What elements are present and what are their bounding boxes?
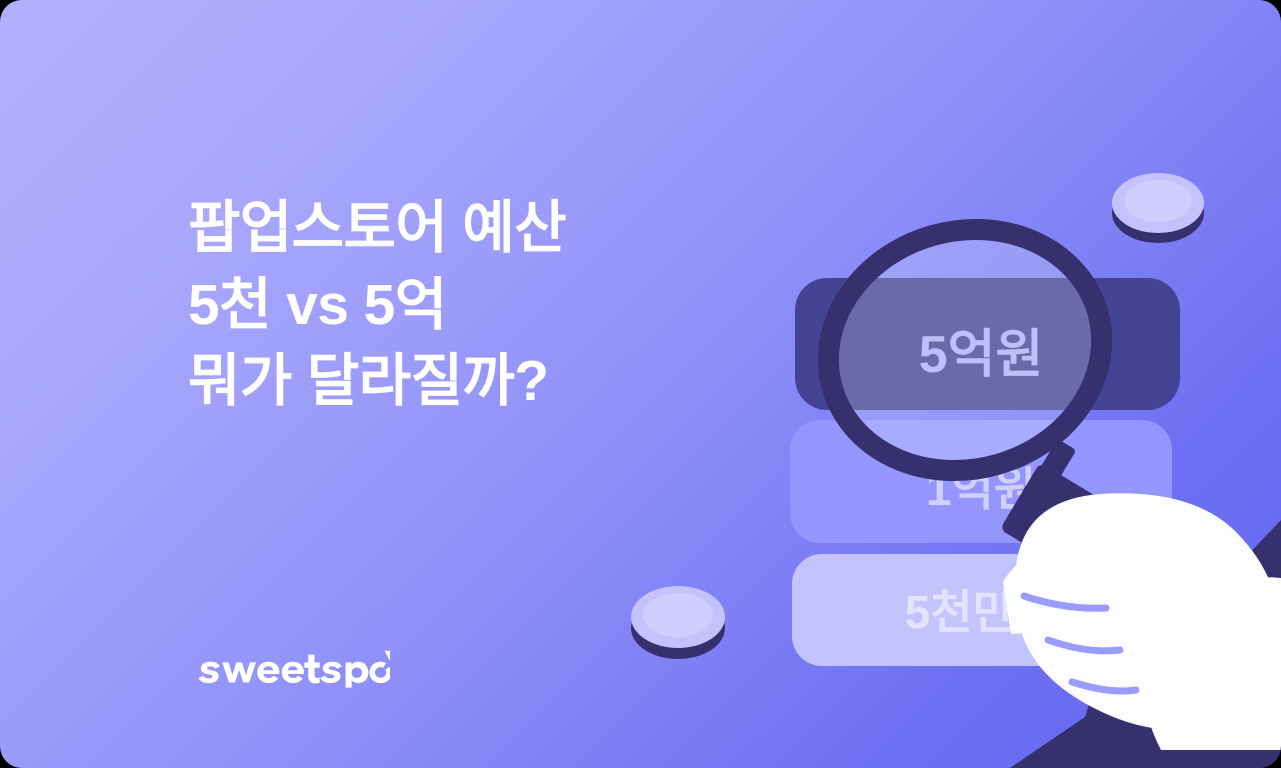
headline-line-2: 5천 vs 5억	[188, 267, 748, 343]
headline-line-3: 뭐가 달라질까?	[188, 343, 748, 419]
headline-line-1: 팝업스토어 예산	[188, 190, 748, 266]
brand-logo	[196, 648, 390, 688]
thumbnail-canvas: 5천만원 1억원 5억원	[0, 0, 1281, 768]
sweetspot-wordmark-icon	[196, 648, 390, 688]
page-title: 팝업스토어 예산 5천 vs 5억 뭐가 달라질까?	[188, 190, 748, 419]
coin-lower	[631, 586, 725, 659]
coin-upper	[1112, 173, 1204, 243]
hand	[1003, 493, 1281, 768]
